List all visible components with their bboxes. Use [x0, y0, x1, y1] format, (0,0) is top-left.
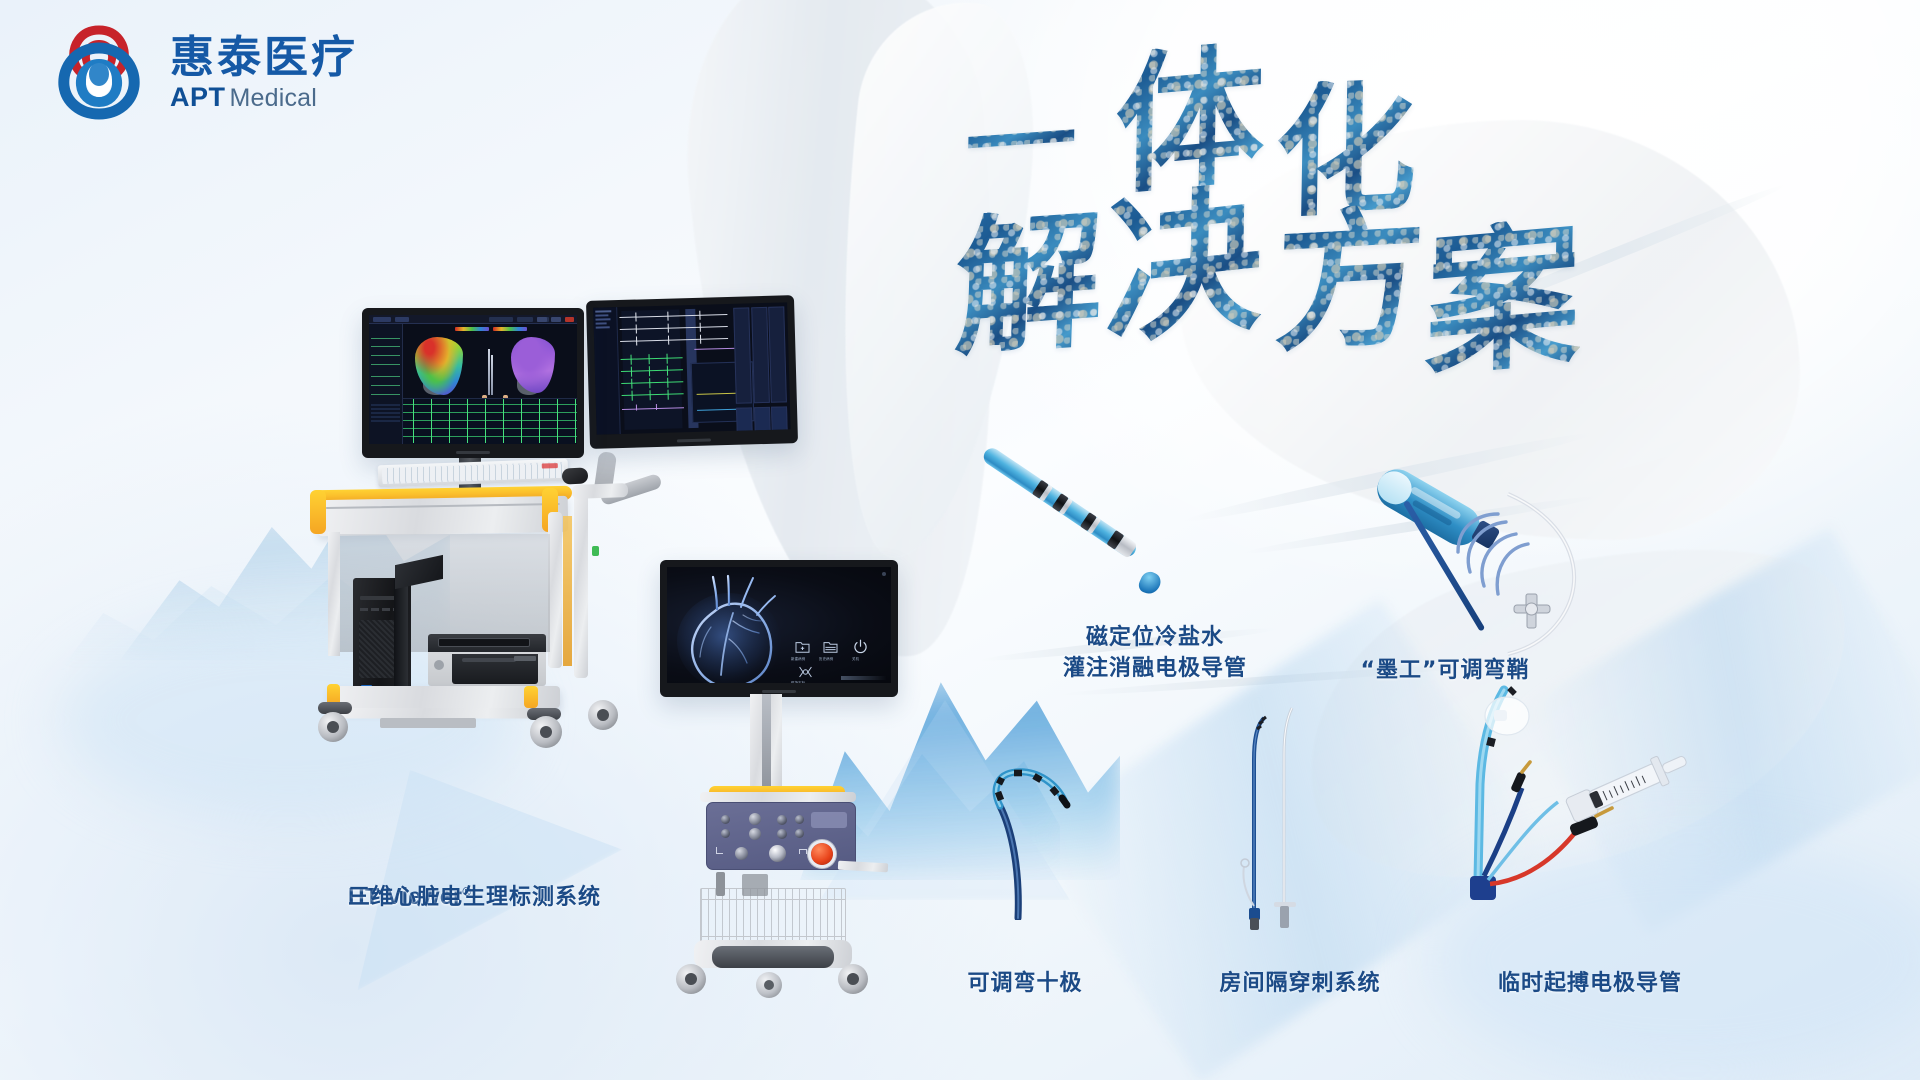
headline-char-5: 决	[1104, 179, 1264, 355]
steerable-sheath-caption: “墨工”可调弯鞘	[1361, 655, 1530, 686]
new-case-label: 新建病例	[791, 656, 805, 661]
caster-wheel	[756, 972, 782, 998]
value-column	[768, 306, 787, 402]
cart-drawer	[318, 496, 569, 536]
power-indicator	[592, 546, 599, 556]
caster-wheel	[530, 716, 562, 748]
mapping-field-icon[interactable]	[798, 666, 813, 678]
channel-list	[593, 307, 621, 435]
camera-dot	[882, 572, 886, 576]
mapping-ecg-pane	[403, 398, 577, 444]
cart-arm-bracket	[572, 483, 628, 499]
cart-accent-strip	[563, 516, 572, 666]
red-stop-button[interactable]	[811, 843, 833, 865]
cart-upright	[574, 490, 588, 678]
open-case-icon[interactable]	[823, 641, 838, 654]
caster-wheel	[838, 964, 868, 994]
mapping-sidebar	[369, 324, 403, 444]
column-highlight	[762, 694, 771, 794]
value-column	[733, 307, 752, 403]
screen-footer-logo	[841, 676, 887, 680]
value-column	[771, 406, 788, 434]
open-case-label: 历史病例	[819, 656, 833, 661]
pacing-catheter-assembly	[1470, 680, 1750, 930]
color-scale-bar	[455, 327, 489, 331]
pc-tower	[353, 578, 411, 702]
color-scale-bar	[493, 327, 527, 331]
headline-char-6: 方	[1272, 202, 1427, 360]
connector-panel[interactable]	[706, 802, 856, 870]
headline-char-7: 案	[1424, 215, 1582, 385]
panel-badge	[811, 812, 847, 828]
power-label: 关机	[852, 656, 859, 661]
recording-monitor[interactable]	[586, 295, 798, 449]
ablation-catheter-caption: 磁定位冷盐水 灌注消融电极导管	[1063, 622, 1247, 684]
cart-base-frame	[338, 708, 553, 719]
pacing-catheter-caption: 临时起搏电极导管	[1498, 968, 1682, 999]
catheter-render	[488, 349, 490, 395]
cable-hook	[716, 872, 725, 896]
headline-calligraphy: 一 体 化 解 决 方 案	[975, 40, 1635, 370]
apt-medical-circles-logo	[46, 22, 152, 120]
panel-tray	[838, 861, 888, 873]
mapping-screen	[369, 315, 577, 444]
value-column	[736, 407, 753, 434]
new-case-icon[interactable]	[795, 641, 810, 654]
printer	[428, 634, 546, 686]
cart-upright	[328, 532, 340, 656]
logo-chinese-name: 惠泰医疗	[170, 35, 358, 81]
transseptal-system-caption: 房间隔穿刺系统	[1219, 968, 1380, 999]
system-subtitle-caption: 三维心脏电生理标测系统	[348, 882, 601, 913]
cart-footrest	[380, 718, 476, 728]
caster-wheel	[676, 964, 706, 994]
logo-apt-text: APT	[170, 84, 226, 111]
brand-logo[interactable]: 惠泰医疗 APT Medical	[46, 22, 358, 120]
base-pad	[712, 946, 834, 968]
pale-triangle	[278, 700, 623, 991]
decapolar-catheter-caption: 可调弯十极	[967, 968, 1082, 999]
three-way-stopcock	[1512, 588, 1556, 634]
keyboard[interactable]	[378, 459, 569, 488]
decapolar-shaft	[960, 730, 1110, 920]
caster-wheel	[318, 712, 348, 742]
storage-basket	[700, 888, 846, 944]
recording-screen	[593, 302, 790, 434]
mapping-menubar	[369, 315, 577, 324]
mouse[interactable]	[562, 467, 589, 484]
cart-shelf	[700, 792, 856, 802]
poster-canvas: 惠泰医疗 APT Medical 一 体 化 解 决 方 案	[0, 0, 1920, 1080]
value-column	[754, 407, 771, 435]
cart-corner-bumper	[310, 490, 326, 534]
value-column	[751, 307, 770, 403]
logo-medical-text: Medical	[230, 86, 318, 111]
headline-char-1: 一	[964, 90, 1077, 199]
intracardiac-ecg-group	[620, 353, 684, 417]
transseptal-needle-and-dilator	[1240, 690, 1370, 940]
heart-illustration	[671, 569, 795, 683]
mapping-field-label: 磁场定标	[791, 680, 805, 683]
power-icon[interactable]	[853, 639, 868, 654]
cart-bracket	[742, 874, 768, 896]
caster-wheel	[588, 700, 618, 730]
cart-base-bumper	[524, 686, 538, 708]
heart-display-monitor[interactable]: 新建病例 历史病例 关机	[660, 560, 898, 697]
cart-upright	[548, 512, 562, 668]
headline-char-4: 解	[953, 204, 1106, 363]
heart-display-screen: 新建病例 历史病例 关机	[667, 567, 891, 683]
mapping-monitor[interactable]	[362, 308, 584, 458]
catheter-render	[491, 355, 493, 395]
surface-ecg-group	[619, 310, 728, 349]
